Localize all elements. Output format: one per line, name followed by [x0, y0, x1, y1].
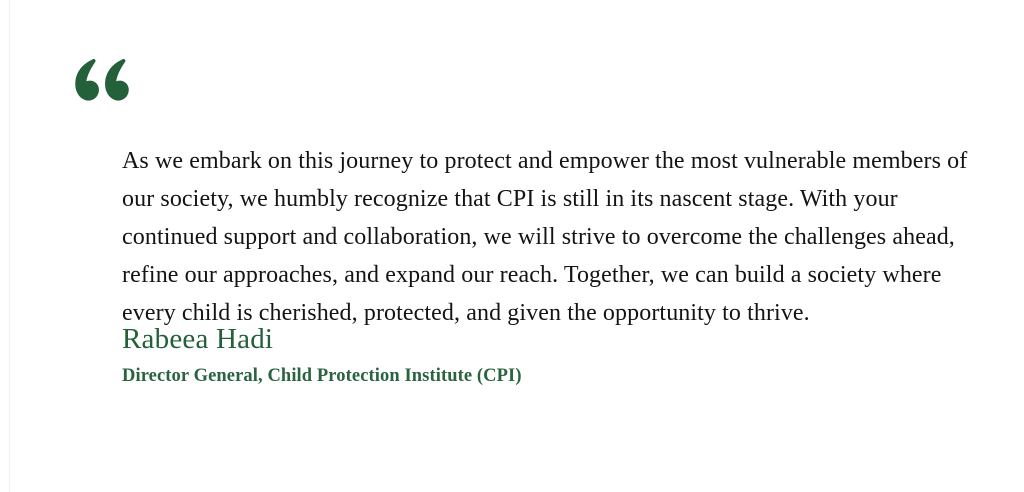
attribution-name: Rabeea Hadi — [122, 320, 842, 358]
attribution-role: Director General, Child Protection Insti… — [122, 364, 842, 388]
quote-attribution: Rabeea Hadi Director General, Child Prot… — [122, 320, 842, 388]
pull-quote-page: As we embark on this journey to protect … — [0, 0, 1024, 492]
testimonial-quote-block: As we embark on this journey to protect … — [0, 0, 1024, 492]
open-quote-icon — [68, 58, 130, 110]
quote-body-text: As we embark on this journey to protect … — [122, 142, 974, 332]
